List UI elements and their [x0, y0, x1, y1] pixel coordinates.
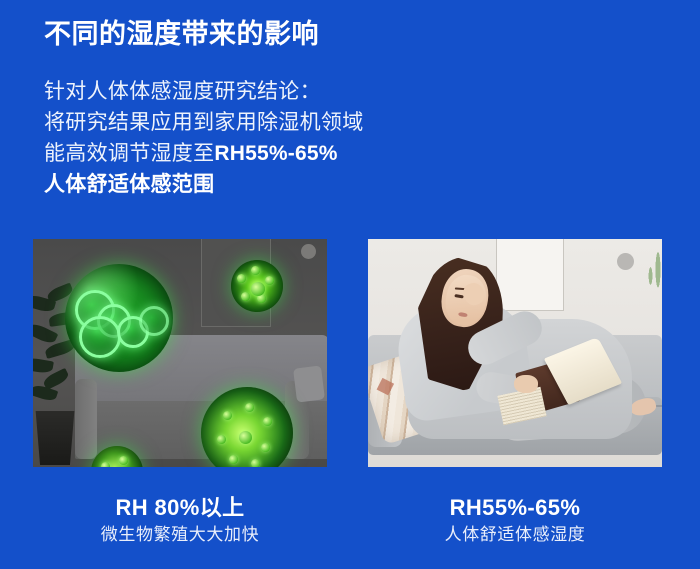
- panel-high-humidity: [33, 239, 327, 467]
- wall-sensor-icon: [617, 253, 634, 270]
- panel-captions: RH 80%以上 微生物繁殖大大加快 RH55%-65% 人体舒适体感湿度: [0, 494, 700, 564]
- sofa-cushion: [293, 365, 325, 402]
- caption-title-right: RH55%-65%: [368, 494, 662, 522]
- body-line-3-text: 能高效调节湿度至: [44, 142, 214, 165]
- wall-art-cactus: [647, 240, 662, 302]
- caption-high-humidity: RH 80%以上 微生物繁殖大大加快: [33, 494, 327, 548]
- plant-pot: [33, 411, 77, 465]
- microbe-cluster-small: [231, 260, 283, 312]
- body-line-2: 将研究结果应用到家用除湿机领域: [44, 107, 604, 138]
- wall-art-frame-cactus: [496, 239, 564, 311]
- panel-comfort-humidity: [368, 239, 662, 467]
- caption-comfort-humidity: RH55%-65% 人体舒适体感湿度: [368, 494, 662, 548]
- promo-slide: 不同的湿度带来的影响 针对人体体感湿度研究结论： 将研究结果应用到家用除湿机领域…: [0, 0, 700, 569]
- photo-panels: [33, 239, 662, 467]
- photo-microbes-dark-room: [33, 239, 327, 467]
- woman-hand-holding-book: [514, 375, 538, 393]
- photo-woman-reading: [368, 239, 662, 467]
- wall-sensor-icon: [301, 244, 316, 259]
- caption-sub-left: 微生物繁殖大大加快: [33, 522, 327, 548]
- body-line-3-highlight: RH55%-65%: [214, 142, 337, 165]
- body-line-4: 人体舒适体感范围: [44, 169, 604, 200]
- body-line-3: 能高效调节湿度至RH55%-65%: [44, 138, 604, 169]
- body-line-1: 针对人体体感湿度研究结论：: [44, 76, 604, 107]
- caption-sub-right: 人体舒适体感湿度: [368, 522, 662, 548]
- page-title: 不同的湿度带来的影响: [44, 16, 319, 52]
- body-copy: 针对人体体感湿度研究结论： 将研究结果应用到家用除湿机领域 能高效调节湿度至RH…: [44, 76, 604, 200]
- microbe-cluster-large: [65, 264, 173, 372]
- caption-title-left: RH 80%以上: [33, 494, 327, 522]
